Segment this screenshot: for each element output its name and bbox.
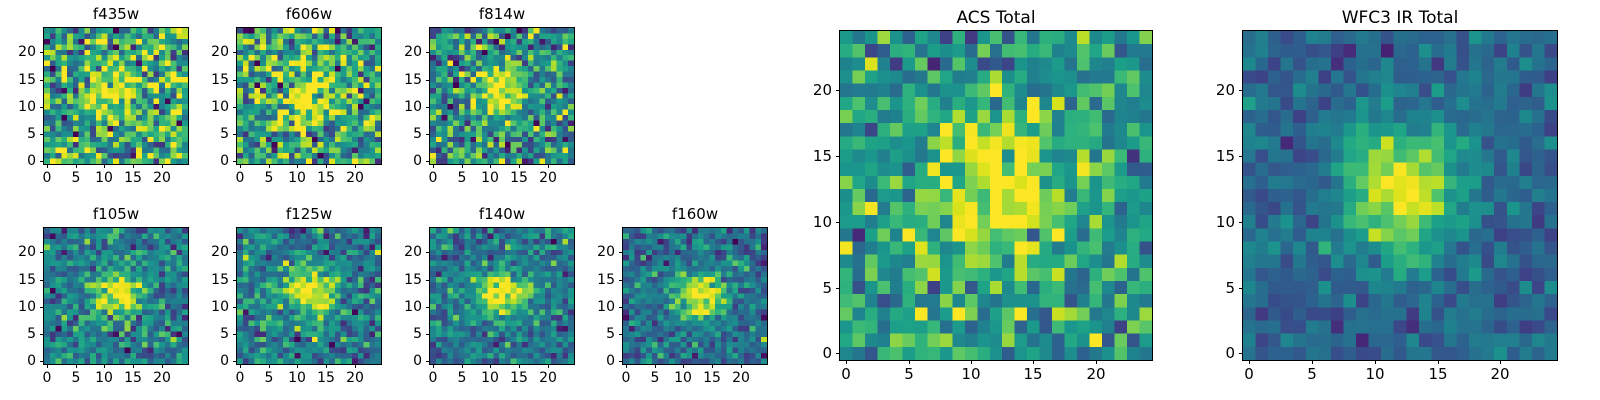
y-axis-tick-label: 0 [384, 154, 422, 168]
y-axis-tick-label: 10 [0, 300, 36, 314]
y-axis-tick-label: 0 [1197, 346, 1235, 361]
y-axis-tick-label: 10 [384, 300, 422, 314]
x-axis-tick-label: 0 [826, 367, 866, 382]
y-axis-tick-label: 5 [0, 327, 36, 341]
x-axis-tick-label: 10 [951, 367, 991, 382]
heatmap-image [840, 31, 1152, 360]
y-axis-tick-label: 15 [0, 73, 36, 87]
y-axis-tick-label: 15 [794, 149, 832, 164]
y-axis-tick-label: 20 [0, 245, 36, 259]
x-axis-tick-label: 10 [84, 371, 124, 385]
x-axis-tick-label: 0 [606, 371, 646, 385]
x-axis-tick-label: 15 [499, 171, 539, 185]
y-axis-tick-label: 15 [384, 73, 422, 87]
x-axis-tick-label: 0 [1229, 367, 1269, 382]
x-axis-tick-label: 5 [56, 171, 96, 185]
x-axis-tick-label: 20 [528, 171, 568, 185]
plot-area-f140w[interactable] [429, 227, 575, 365]
x-axis-tick-label: 10 [663, 371, 703, 385]
x-axis-tick-label: 5 [889, 367, 929, 382]
heatmap-image [237, 28, 381, 164]
x-axis-tick-label: 5 [442, 371, 482, 385]
x-axis-tick-label: 15 [113, 371, 153, 385]
plot-area-wfc3-ir-total[interactable] [1242, 30, 1558, 361]
panel-title-f814w: f814w [430, 7, 574, 22]
heatmap-image [44, 228, 188, 364]
x-axis-tick-label: 0 [27, 371, 67, 385]
panel-title-f160w: f160w [623, 207, 767, 222]
heatmap-image [430, 228, 574, 364]
panel-title-f105w: f105w [44, 207, 188, 222]
x-axis-tick-label: 5 [635, 371, 675, 385]
x-axis-tick-label: 10 [1355, 367, 1395, 382]
x-axis-tick-label: 5 [56, 371, 96, 385]
y-axis-tick-label: 5 [191, 127, 229, 141]
plot-area-f160w[interactable] [622, 227, 768, 365]
x-axis-tick-label: 10 [470, 371, 510, 385]
panel-title-acs-total: ACS Total [840, 10, 1152, 27]
y-axis-tick-label: 20 [1197, 83, 1235, 98]
y-axis-tick-label: 0 [191, 154, 229, 168]
plot-area-f606w[interactable] [236, 27, 382, 165]
y-axis-tick-label: 10 [1197, 215, 1235, 230]
plot-area-f435w[interactable] [43, 27, 189, 165]
x-axis-tick-label: 5 [249, 371, 289, 385]
x-axis-tick-label: 20 [142, 371, 182, 385]
y-axis-tick-label: 5 [0, 127, 36, 141]
x-axis-tick-label: 20 [528, 371, 568, 385]
y-axis-tick-label: 15 [384, 273, 422, 287]
x-axis-tick-label: 15 [306, 171, 346, 185]
x-axis-tick-label: 20 [335, 371, 375, 385]
y-axis-tick-label: 5 [384, 327, 422, 341]
panel-title-wfc3-ir-total: WFC3 IR Total [1243, 10, 1557, 27]
x-axis-tick-label: 15 [499, 371, 539, 385]
y-axis-tick-label: 10 [191, 300, 229, 314]
x-axis-tick-label: 0 [413, 171, 453, 185]
x-axis-tick-label: 5 [1292, 367, 1332, 382]
x-axis-tick-label: 5 [442, 171, 482, 185]
y-axis-tick-label: 5 [191, 327, 229, 341]
x-axis-tick-label: 15 [692, 371, 732, 385]
y-axis-tick-label: 0 [384, 354, 422, 368]
y-axis-tick-label: 10 [191, 100, 229, 114]
y-axis-tick-label: 5 [384, 127, 422, 141]
y-axis-tick-label: 10 [577, 300, 615, 314]
panel-title-f140w: f140w [430, 207, 574, 222]
panel-title-f435w: f435w [44, 7, 188, 22]
y-axis-tick-label: 5 [577, 327, 615, 341]
panel-title-f125w: f125w [237, 207, 381, 222]
figure-canvas: f435w0510152005101520f606w05101520051015… [0, 0, 1600, 400]
y-axis-tick-label: 20 [0, 45, 36, 59]
y-axis-tick-label: 15 [0, 273, 36, 287]
heatmap-image [623, 228, 767, 364]
y-axis-tick-label: 20 [384, 45, 422, 59]
x-axis-tick-label: 10 [470, 171, 510, 185]
y-axis-tick-label: 15 [191, 73, 229, 87]
y-axis-tick-label: 15 [191, 273, 229, 287]
plot-area-f814w[interactable] [429, 27, 575, 165]
y-axis-tick-label: 5 [1197, 281, 1235, 296]
x-axis-tick-label: 15 [1418, 367, 1458, 382]
y-axis-tick-label: 5 [794, 281, 832, 296]
y-axis-tick-label: 10 [0, 100, 36, 114]
y-axis-tick-label: 10 [794, 215, 832, 230]
x-axis-tick-label: 15 [1013, 367, 1053, 382]
heatmap-image [237, 228, 381, 364]
x-axis-tick-label: 15 [113, 171, 153, 185]
heatmap-image [430, 28, 574, 164]
y-axis-tick-label: 0 [0, 354, 36, 368]
y-axis-tick-label: 15 [1197, 149, 1235, 164]
x-axis-tick-label: 20 [1076, 367, 1116, 382]
y-axis-tick-label: 0 [794, 346, 832, 361]
y-axis-tick-label: 0 [577, 354, 615, 368]
y-axis-tick-label: 15 [577, 273, 615, 287]
x-axis-tick-label: 0 [220, 171, 260, 185]
y-axis-tick-label: 20 [577, 245, 615, 259]
x-axis-tick-label: 10 [277, 171, 317, 185]
x-axis-tick-label: 5 [249, 171, 289, 185]
x-axis-tick-label: 15 [306, 371, 346, 385]
y-axis-tick-label: 20 [191, 245, 229, 259]
heatmap-image [1243, 31, 1557, 360]
x-axis-tick-label: 10 [277, 371, 317, 385]
plot-area-acs-total[interactable] [839, 30, 1153, 361]
x-axis-tick-label: 0 [413, 371, 453, 385]
x-axis-tick-label: 0 [27, 171, 67, 185]
y-axis-tick-label: 20 [794, 83, 832, 98]
plot-area-f125w[interactable] [236, 227, 382, 365]
x-axis-tick-label: 0 [220, 371, 260, 385]
panel-title-f606w: f606w [237, 7, 381, 22]
y-axis-tick-label: 20 [384, 245, 422, 259]
y-axis-tick-label: 0 [191, 354, 229, 368]
y-axis-tick-label: 0 [0, 154, 36, 168]
x-axis-tick-label: 20 [335, 171, 375, 185]
x-axis-tick-label: 10 [84, 171, 124, 185]
heatmap-image [44, 28, 188, 164]
y-axis-tick-label: 20 [191, 45, 229, 59]
y-axis-tick-label: 10 [384, 100, 422, 114]
x-axis-tick-label: 20 [142, 171, 182, 185]
plot-area-f105w[interactable] [43, 227, 189, 365]
x-axis-tick-label: 20 [721, 371, 761, 385]
x-axis-tick-label: 20 [1480, 367, 1520, 382]
